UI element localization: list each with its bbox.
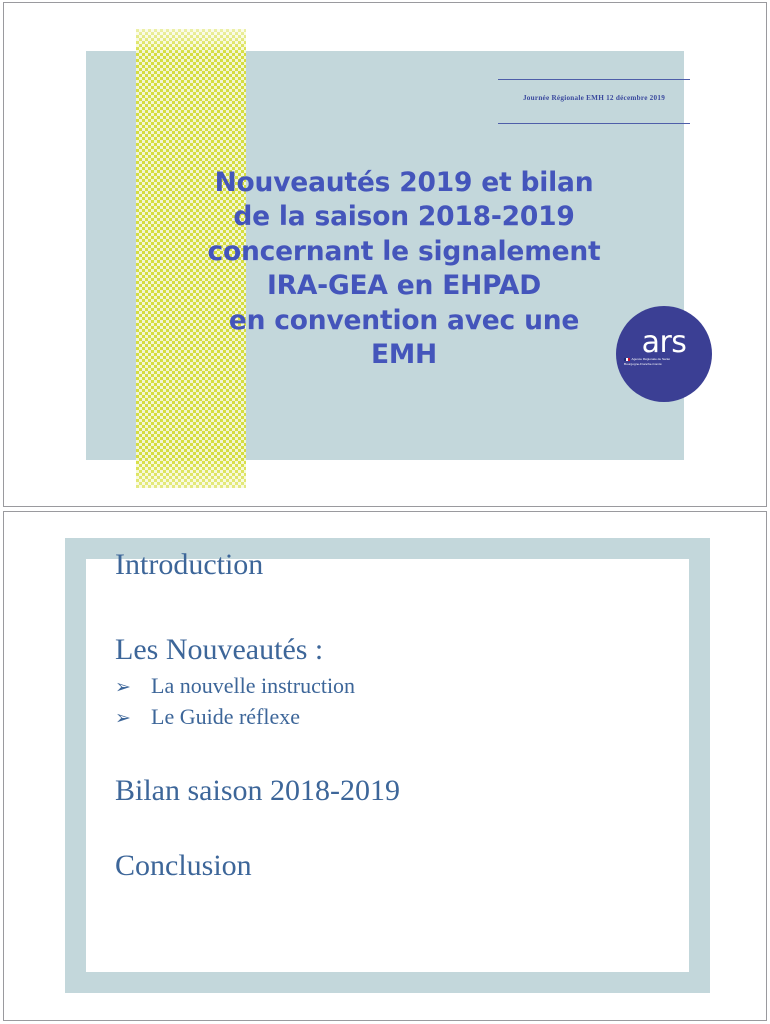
- spacer-3: [115, 807, 746, 849]
- slide-1-title: Nouveautés 2019 et bilan de la saison 20…: [154, 166, 654, 373]
- slide-1: Journée Régionale EMH 12 décembre 2019 N…: [3, 2, 767, 507]
- header-rule-bottom: [498, 123, 690, 124]
- french-flag-icon: [624, 358, 630, 361]
- event-label: Journée Régionale EMH 12 décembre 2019: [498, 80, 690, 123]
- slide-1-header-block: Journée Régionale EMH 12 décembre 2019: [498, 79, 690, 124]
- list-item: ➢ La nouvelle instruction: [115, 670, 746, 701]
- spacer-2: [115, 732, 746, 774]
- bullet-label: La nouvelle instruction: [151, 670, 355, 701]
- list-item: ➢ Le Guide réflexe: [115, 701, 746, 732]
- title-line-1: Nouveautés 2019 et bilan: [154, 166, 654, 200]
- slide-2: Introduction Les Nouveautés : ➢ La nouve…: [3, 511, 767, 1021]
- ars-wordmark: ars: [616, 328, 712, 358]
- ars-logo-subtitle: Agence Régionale de Santé Bourgogne-Fran…: [624, 357, 690, 367]
- bullet-label: Le Guide réflexe: [151, 701, 300, 732]
- arrow-bullet-icon: ➢: [115, 705, 151, 732]
- arrow-bullet-icon: ➢: [115, 674, 151, 701]
- handout-page: Journée Régionale EMH 12 décembre 2019 N…: [0, 0, 770, 1024]
- agenda-heading-conclusion: Conclusion: [115, 849, 746, 882]
- ars-subtitle-line-1: Agence Régionale de Santé: [632, 357, 671, 361]
- spacer-1: [115, 581, 746, 633]
- title-line-4: IRA-GEA en EHPAD: [154, 269, 654, 303]
- agenda-bullet-list: ➢ La nouvelle instruction ➢ Le Guide réf…: [115, 670, 746, 732]
- slide-2-agenda: Introduction Les Nouveautés : ➢ La nouve…: [115, 548, 746, 882]
- title-line-6: EMH: [154, 338, 654, 372]
- agenda-heading-bilan: Bilan saison 2018-2019: [115, 774, 746, 807]
- title-line-3: concernant le signalement: [154, 235, 654, 269]
- agenda-heading-introduction: Introduction: [115, 548, 746, 581]
- agenda-heading-nouveautes: Les Nouveautés :: [115, 633, 746, 666]
- title-line-2: de la saison 2018-2019: [154, 200, 654, 234]
- ars-logo: ars Agence Régionale de Santé Bourgogne-…: [616, 306, 712, 402]
- title-line-5: en convention avec une: [154, 304, 654, 338]
- ars-subtitle-line-2: Bourgogne-Franche-Comté: [624, 362, 662, 366]
